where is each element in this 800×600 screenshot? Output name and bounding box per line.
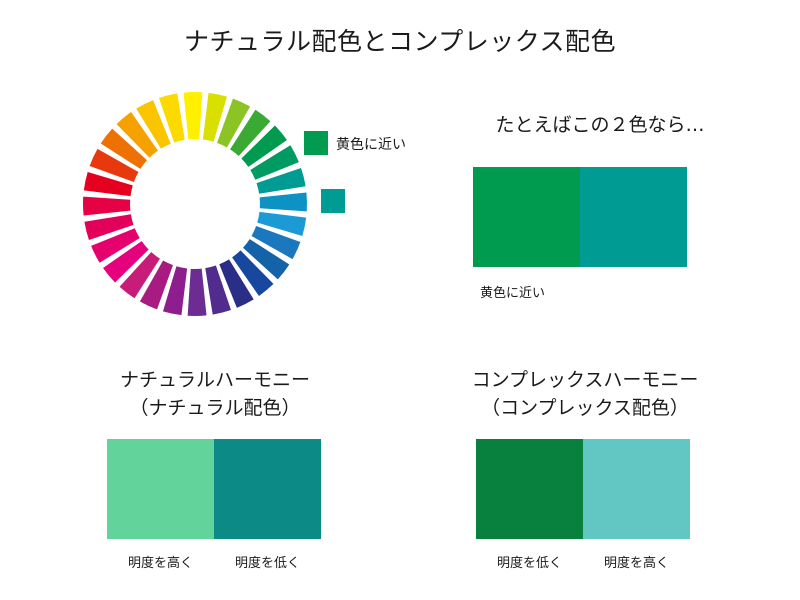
- color-wheel-segment: [83, 197, 130, 216]
- color-wheel-svg: [80, 89, 310, 319]
- example-captions: 黄色に近い: [473, 282, 687, 301]
- complex-swatch-right: [583, 439, 690, 539]
- example-heading: たとえばこの２色なら…: [455, 110, 745, 137]
- example-swatch-left: [473, 167, 580, 267]
- natural-captions: 明度を高く 明度を低く: [107, 552, 321, 571]
- example-caption-left: 黄色に近い: [473, 282, 580, 301]
- example-color-pair: [473, 167, 687, 267]
- legend-label-yellowish: 黄色に近い: [336, 134, 406, 154]
- complex-caption-left: 明度を低く: [476, 552, 583, 571]
- natural-color-pair: [107, 439, 321, 539]
- natural-heading: ナチュラルハーモニー （ナチュラル配色）: [55, 366, 375, 422]
- example-swatch-right: [580, 167, 687, 267]
- legend-swatch-teal: [321, 189, 345, 213]
- complex-heading-line2: （コンプレックス配色）: [425, 394, 745, 422]
- legend-swatch-green: [304, 131, 328, 155]
- complex-swatch-left: [476, 439, 583, 539]
- complex-color-pair: [476, 439, 690, 539]
- complex-heading-line1: コンプレックスハーモニー: [425, 366, 745, 394]
- complex-heading: コンプレックスハーモニー （コンプレックス配色）: [425, 366, 745, 422]
- color-wheel-segment: [188, 269, 207, 316]
- natural-heading-line1: ナチュラルハーモニー: [55, 366, 375, 394]
- example-caption-right: [580, 282, 687, 301]
- natural-heading-line2: （ナチュラル配色）: [55, 394, 375, 422]
- natural-caption-left: 明度を高く: [107, 552, 214, 571]
- natural-swatch-left: [107, 439, 214, 539]
- color-wheel-segment: [183, 92, 202, 139]
- complex-caption-right: 明度を高く: [583, 552, 690, 571]
- color-wheel-segment: [260, 192, 307, 211]
- page-title: ナチュラル配色とコンプレックス配色: [0, 22, 800, 58]
- natural-swatch-right: [214, 439, 321, 539]
- complex-captions: 明度を低く 明度を高く: [476, 552, 690, 571]
- color-wheel: [80, 89, 310, 319]
- natural-caption-right: 明度を低く: [214, 552, 321, 571]
